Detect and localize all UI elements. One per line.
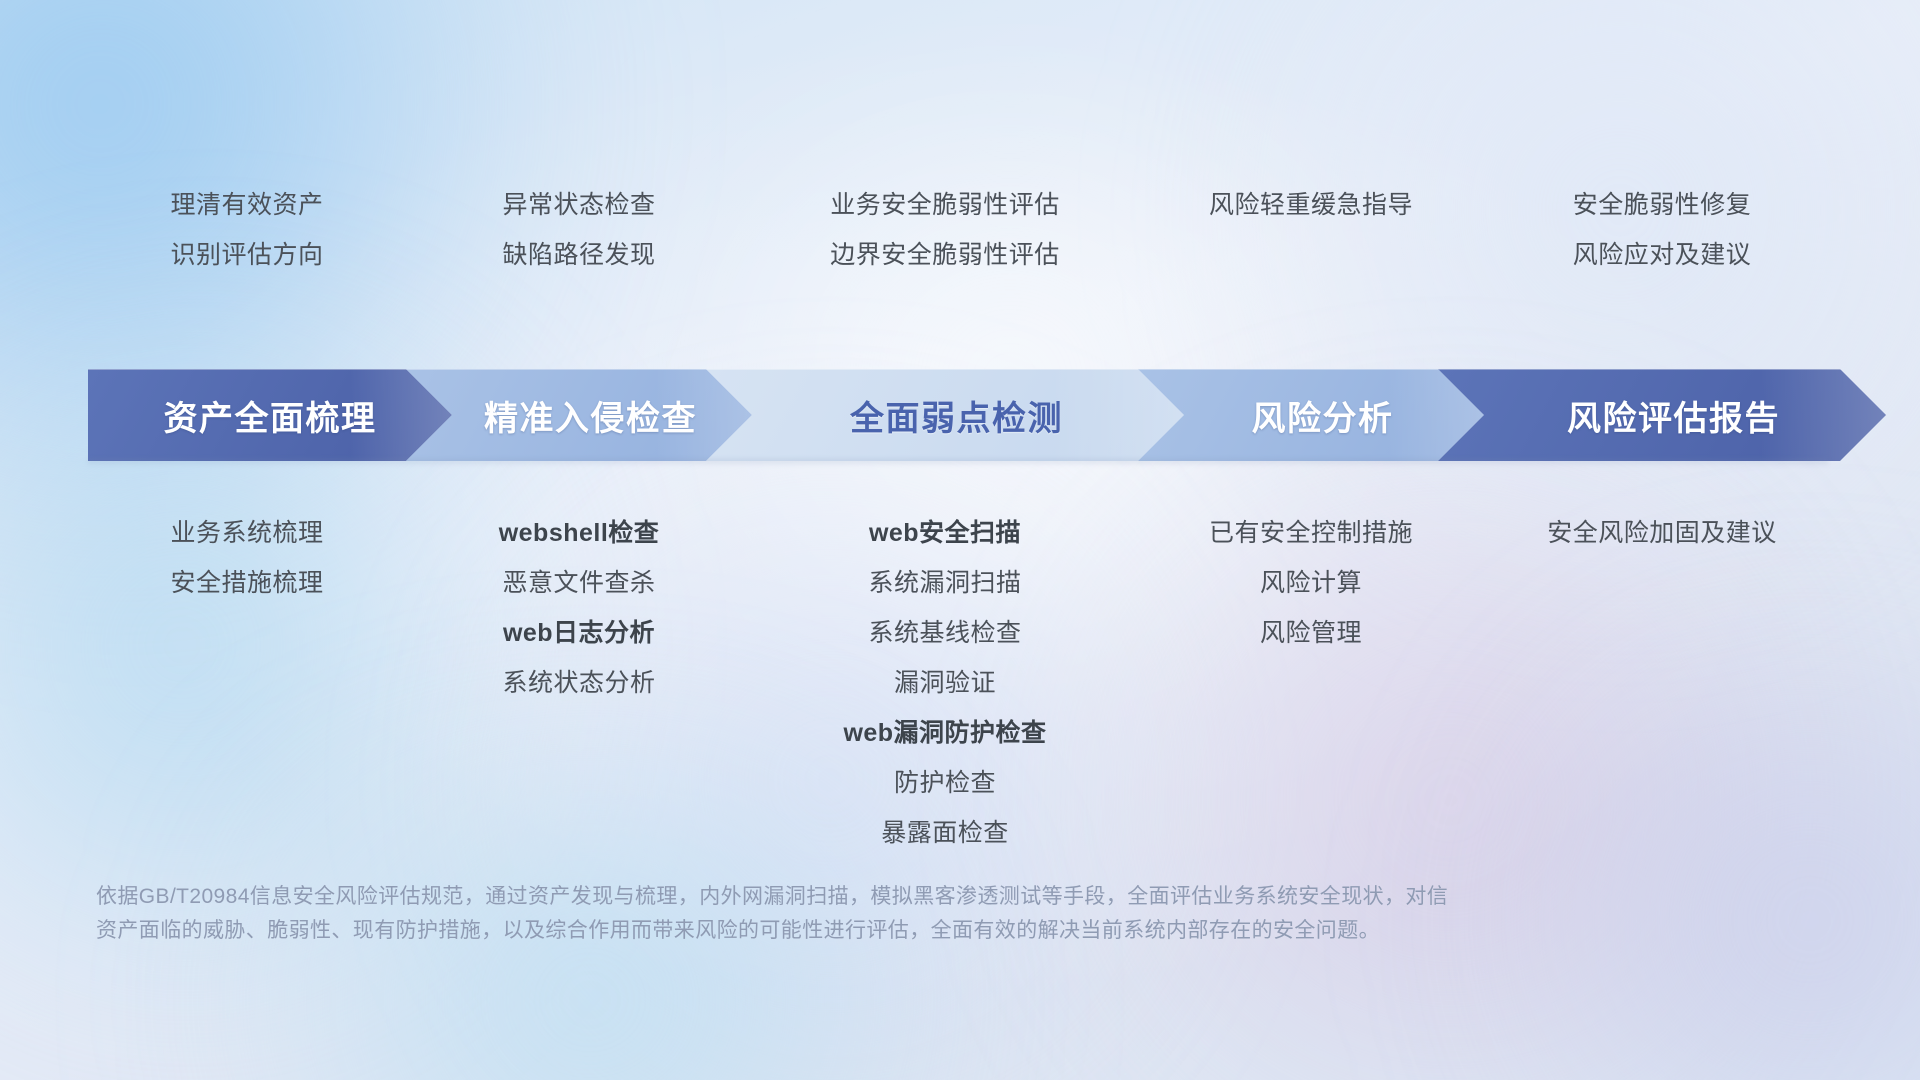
upper-item: 安全脆弱性修复 xyxy=(1412,180,1912,230)
process-diagram: 理清有效资产识别评估方向异常状态检查缺陷路径发现业务安全脆弱性评估边界安全脆弱性… xyxy=(0,0,1920,1080)
stage-chevron-band: 资产全面梳理精准入侵检查全面弱点检测风险分析风险评估报告 xyxy=(88,369,1840,461)
lower-descriptors-assessment-report: 安全风险加固及建议 xyxy=(1412,508,1912,558)
upper-descriptors-assessment-report: 安全脆弱性修复风险应对及建议 xyxy=(1412,180,1912,280)
upper-descriptor-row: 理清有效资产识别评估方向异常状态检查缺陷路径发现业务安全脆弱性评估边界安全脆弱性… xyxy=(0,180,1920,290)
stage-title-assessment-report: 风险评估报告 xyxy=(1567,391,1780,440)
lower-item: 安全风险加固及建议 xyxy=(1412,508,1912,558)
upper-item: 边界安全脆弱性评估 xyxy=(695,230,1195,280)
lower-item: web漏洞防护检查 xyxy=(695,708,1195,758)
lower-item: 暴露面检查 xyxy=(695,808,1195,858)
stage-chevron-asset-inventory[interactable]: 资产全面梳理 xyxy=(88,369,452,461)
chevron-band-shadow xyxy=(88,459,1828,466)
lower-item: 风险计算 xyxy=(1061,558,1561,608)
stage-chevron-weakness-detection[interactable]: 全面弱点检测 xyxy=(706,369,1184,461)
stage-title-weakness-detection: 全面弱点检测 xyxy=(850,391,1063,440)
lower-item: 风险管理 xyxy=(1061,608,1561,658)
footer-line-1: 依据GB/T20984信息安全风险评估规范，通过资产发现与梳理，内外网漏洞扫描，… xyxy=(96,880,1656,914)
stage-title-risk-analysis: 风险分析 xyxy=(1252,391,1394,440)
stage-title-intrusion-check: 精准入侵检查 xyxy=(484,391,697,440)
upper-item: 风险应对及建议 xyxy=(1412,230,1912,280)
lower-item: 防护检查 xyxy=(695,758,1195,808)
stage-title-asset-inventory: 资产全面梳理 xyxy=(164,391,377,440)
footer-note: 依据GB/T20984信息安全风险评估规范，通过资产发现与梳理，内外网漏洞扫描，… xyxy=(96,880,1656,948)
lower-item: 漏洞验证 xyxy=(695,658,1195,708)
stage-chevron-assessment-report[interactable]: 风险评估报告 xyxy=(1438,369,1886,461)
stage-chevron-risk-analysis[interactable]: 风险分析 xyxy=(1138,369,1484,461)
footer-line-2: 资产面临的威胁、脆弱性、现有防护措施，以及综合作用而带来风险的可能性进行评估，全… xyxy=(96,914,1656,948)
stage-chevron-intrusion-check[interactable]: 精准入侵检查 xyxy=(406,369,752,461)
